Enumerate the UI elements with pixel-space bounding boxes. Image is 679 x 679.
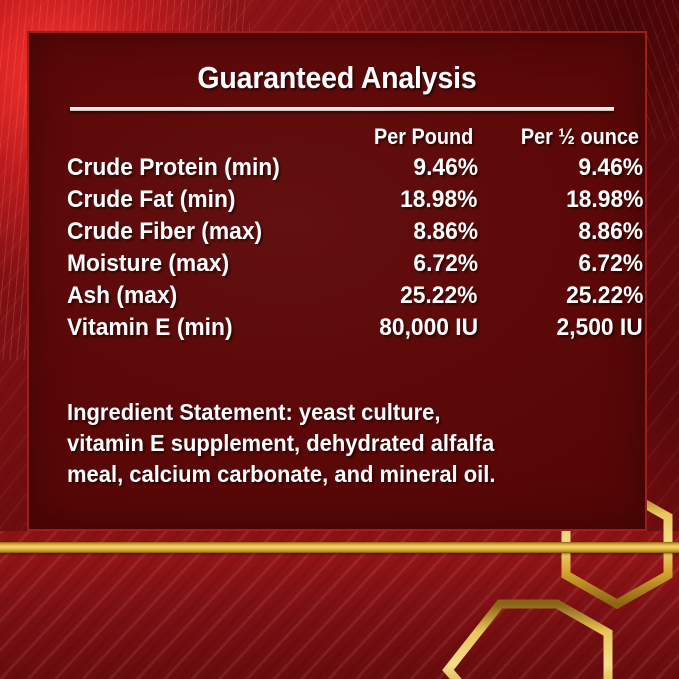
title-underline xyxy=(70,107,614,111)
row-label-vitamin-e: Vitamin E (min) xyxy=(67,312,320,344)
guaranteed-analysis-table: Per Pound Per ½ ounce Crude Protein (min… xyxy=(67,121,647,344)
ingredient-statement: Ingredient Statement: yeast culture, vit… xyxy=(67,397,627,490)
row-label-text: Crude Fiber (max) xyxy=(67,218,262,246)
table-header-row: Per Pound Per ½ ounce xyxy=(67,121,647,152)
table-row: Crude Protein (min) 9.46% 9.46% xyxy=(67,152,647,184)
row-label-text: Vitamin E (min) xyxy=(67,314,233,342)
table-body: Crude Protein (min) 9.46% 9.46% Crude Fa… xyxy=(67,152,647,344)
row-value-per-pound: 9.46% xyxy=(320,152,483,184)
row-value-per-half-ounce: 8.86% xyxy=(484,216,647,248)
column-header-per-half-ounce-label: Per ½ ounce xyxy=(521,124,639,150)
row-value-text: 80,000 IU xyxy=(379,314,478,342)
row-label-moisture: Moisture (max) xyxy=(67,248,320,280)
row-value-per-pound: 80,000 IU xyxy=(320,312,483,344)
row-value-text: 9.46% xyxy=(578,154,643,182)
row-value-text: 8.86% xyxy=(578,218,643,246)
row-label-crude-fiber: Crude Fiber (max) xyxy=(67,216,320,248)
row-value-per-pound: 18.98% xyxy=(320,184,483,216)
column-header-per-half-ounce: Per ½ ounce xyxy=(488,121,643,152)
row-label-ash: Ash (max) xyxy=(67,280,320,312)
row-value-text: 6.72% xyxy=(578,250,643,278)
row-label-text: Ash (max) xyxy=(67,282,177,310)
ingredient-statement-line: vitamin E supplement, dehydrated alfalfa xyxy=(67,428,602,459)
row-value-text: 9.46% xyxy=(413,154,478,182)
guaranteed-analysis-panel: Guaranteed Analysis Per Pound Per ½ ounc… xyxy=(27,31,647,531)
row-value-text: 2,500 IU xyxy=(557,314,643,342)
row-value-per-half-ounce: 25.22% xyxy=(484,280,647,312)
row-value-per-pound: 25.22% xyxy=(320,280,483,312)
row-value-per-half-ounce: 9.46% xyxy=(484,152,647,184)
ingredient-statement-line: meal, calcium carbonate, and mineral oil… xyxy=(67,459,602,490)
row-value-per-half-ounce: 6.72% xyxy=(484,248,647,280)
bottom-decorative-band xyxy=(0,531,679,679)
row-value-per-pound: 6.72% xyxy=(320,248,483,280)
row-value-text: 25.22% xyxy=(400,282,477,310)
table-header: Per Pound Per ½ ounce xyxy=(67,121,647,152)
row-label-crude-fat: Crude Fat (min) xyxy=(67,184,320,216)
row-label-text: Crude Fat (min) xyxy=(67,186,235,214)
table-row: Crude Fat (min) 18.98% 18.98% xyxy=(67,184,647,216)
row-label-text: Crude Protein (min) xyxy=(67,154,280,182)
page-title: Guaranteed Analysis xyxy=(54,33,621,96)
gold-divider-line xyxy=(0,542,679,553)
row-value-text: 8.86% xyxy=(413,218,478,246)
column-header-per-pound: Per Pound xyxy=(324,121,479,152)
row-label-text: Moisture (max) xyxy=(67,250,229,278)
row-value-per-pound: 8.86% xyxy=(320,216,483,248)
table-row: Crude Fiber (max) 8.86% 8.86% xyxy=(67,216,647,248)
label-panel-root: Guaranteed Analysis Per Pound Per ½ ounc… xyxy=(0,0,679,679)
table-row: Moisture (max) 6.72% 6.72% xyxy=(67,248,647,280)
row-value-per-half-ounce: 18.98% xyxy=(484,184,647,216)
row-value-text: 25.22% xyxy=(566,282,643,310)
row-label-crude-protein: Crude Protein (min) xyxy=(67,152,320,184)
table-row: Ash (max) 25.22% 25.22% xyxy=(67,280,647,312)
row-value-per-half-ounce: 2,500 IU xyxy=(484,312,647,344)
column-header-nutrient xyxy=(73,121,314,152)
table-row: Vitamin E (min) 80,000 IU 2,500 IU xyxy=(67,312,647,344)
row-value-text: 18.98% xyxy=(566,186,643,214)
column-header-per-pound-label: Per Pound xyxy=(375,124,474,150)
bottom-band-stripes xyxy=(0,531,679,679)
row-value-text: 6.72% xyxy=(413,250,478,278)
row-value-text: 18.98% xyxy=(400,186,477,214)
ingredient-statement-line: Ingredient Statement: yeast culture, xyxy=(67,397,602,428)
